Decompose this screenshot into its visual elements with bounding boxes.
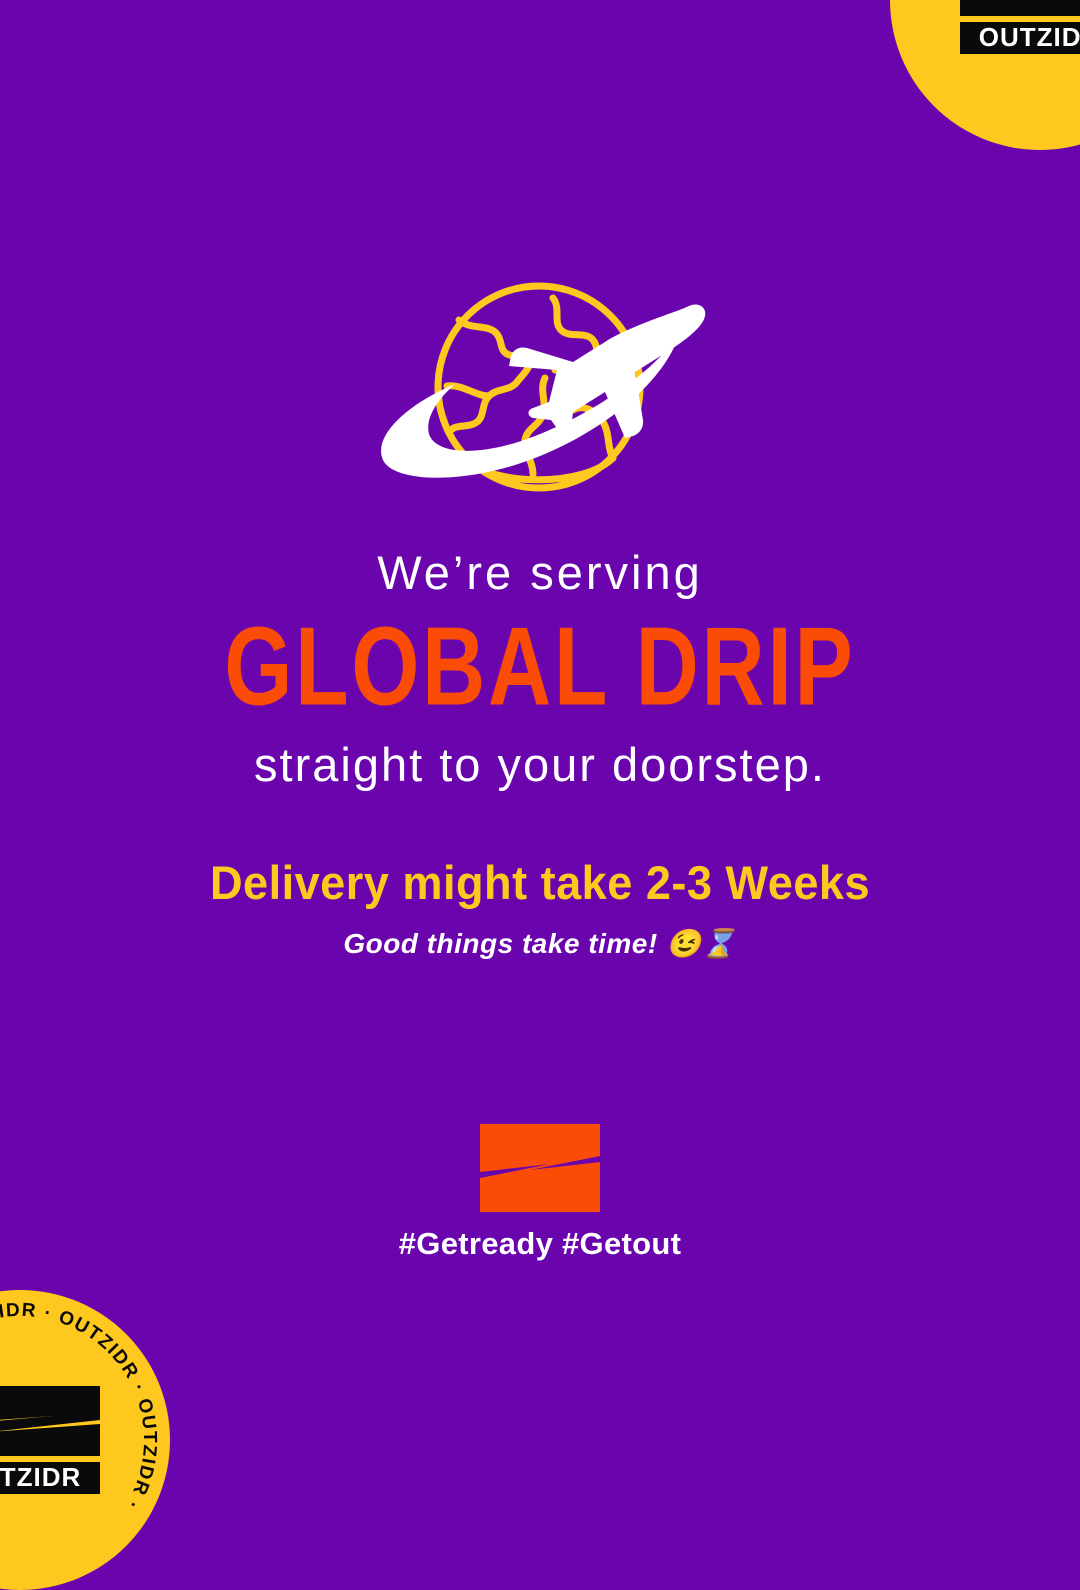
pre-headline-text: We’re serving [0, 548, 1080, 597]
outzidr-badge-top-right: OUTZIDR · OUTZIDR · OUTZIDR · OUTZIDR · … [890, 0, 1080, 150]
promo-copy-block: We’re serving GLOBAL DRIP straight to yo… [0, 548, 1080, 961]
footer-block: #Getready #Getout [0, 1122, 1080, 1262]
headline-text: GLOBAL DRIP [38, 609, 1042, 725]
outzidr-badge-bottom-left: OUTZIDR · OUTZIDR · OUTZIDR · OUTZIDR · … [0, 1290, 170, 1590]
hashtags-text: #Getready #Getout [0, 1226, 1080, 1262]
delivery-note-text: Delivery might take 2-3 Weeks [22, 857, 1059, 909]
globe-airplane-icon [367, 278, 713, 508]
post-headline-text: straight to your doorstep. [0, 740, 1080, 789]
badge-core-mark: OUTZIDR [952, 0, 1080, 60]
outzidr-z-logo [478, 1122, 602, 1214]
sub-note-text: Good things take time! 😉⌛ [0, 927, 1080, 961]
badge-core-wordmark: OUTZIDR [979, 22, 1080, 52]
z-mark-orange [480, 1124, 600, 1212]
badge-core-wordmark: OUTZIDR [0, 1462, 81, 1492]
badge-core-mark: OUTZIDR [0, 1380, 108, 1500]
